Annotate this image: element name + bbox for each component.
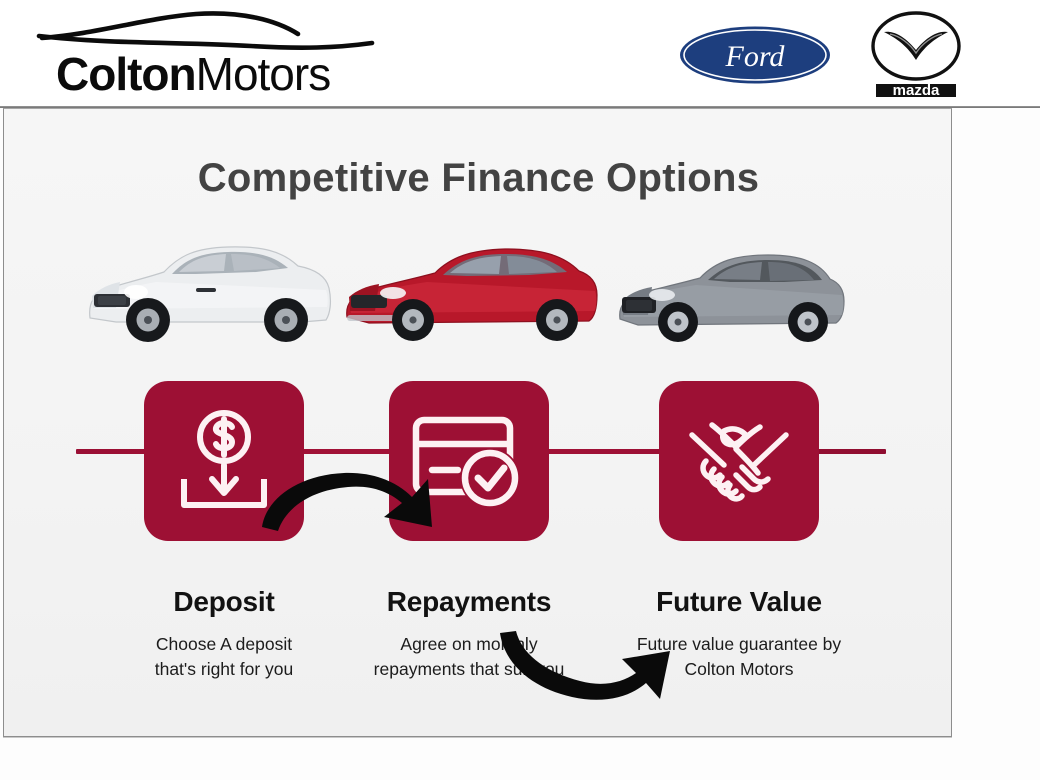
step-deposit[interactable]: Deposit Choose A deposit that's right fo… — [99, 381, 349, 682]
step-repayments-tile[interactable] — [389, 381, 549, 541]
handshake-icon — [680, 409, 798, 513]
slide-root: ColtonMotors Ford mazda Competitive Fina… — [0, 0, 1040, 780]
step-deposit-title: Deposit — [99, 586, 349, 618]
step-repayments-title: Repayments — [344, 586, 594, 618]
svg-text:mazda: mazda — [893, 82, 940, 99]
deposit-dollar-arrow-icon — [168, 405, 280, 517]
car-grey-hatchback — [612, 235, 852, 347]
step-deposit-tile[interactable] — [144, 381, 304, 541]
ford-oval-logo[interactable]: Ford — [679, 26, 831, 84]
page-header: ColtonMotors Ford mazda — [0, 0, 1040, 108]
step-future-value[interactable]: Future Value Future value guarantee by C… — [614, 381, 864, 682]
credit-card-check-icon — [410, 406, 528, 516]
step-deposit-description: Choose A deposit that's right for you — [99, 632, 349, 682]
step-repayments[interactable]: Repayments Agree on monthly repayments t… — [344, 381, 594, 682]
car-lineup — [4, 217, 953, 347]
step-repayments-description: Agree on monthly repayments that suit yo… — [344, 632, 594, 682]
mazda-wing-logo[interactable]: mazda — [868, 10, 964, 100]
step-future-value-tile[interactable] — [659, 381, 819, 541]
ford-wordmark: Ford — [725, 40, 786, 73]
brand-name-bold: Colton — [56, 48, 196, 100]
car-white-suv — [76, 222, 341, 347]
mazda-wordmark: mazda — [876, 82, 956, 99]
brand-name-light: Motors — [196, 48, 331, 100]
brand-wordmark: ColtonMotors — [56, 48, 406, 100]
content-panel: Competitive Finance Options — [3, 108, 952, 737]
step-future-value-description: Future value guarantee by Colton Motors — [614, 632, 864, 682]
car-silhouette-icon — [36, 10, 376, 52]
finance-steps: Deposit Choose A deposit that's right fo… — [4, 381, 953, 721]
step-future-value-title: Future Value — [614, 586, 864, 618]
colton-motors-logo[interactable]: ColtonMotors — [28, 8, 383, 100]
page-title: Competitive Finance Options — [4, 156, 953, 201]
car-red-sedan — [339, 225, 604, 347]
